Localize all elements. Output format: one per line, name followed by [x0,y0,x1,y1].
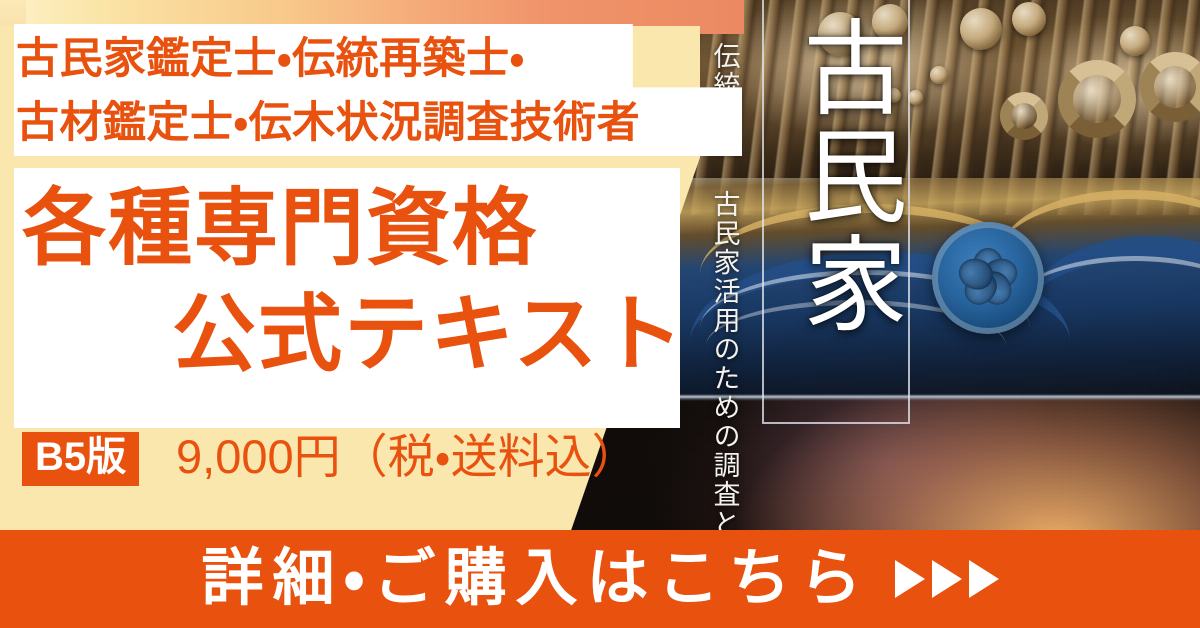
cta-label: 詳細・ご購入はこちら [201,548,870,610]
cta-arrow-group [895,560,999,598]
book-title-vertical: 古民家 [770,14,902,338]
triangle-right-icon [895,560,925,598]
product-name-line-1: 各種専門資格 [22,186,538,270]
triangle-right-icon [932,560,962,598]
triangle-right-icon [969,560,999,598]
price-text: 9,000円（税・送料込） [176,433,639,480]
product-name-line-2: 公式テキスト [172,292,685,376]
cta-bar[interactable]: 詳細・ご購入はこちら [0,530,1200,628]
headline-text: 古民家鑑定士・伝統再築士・ 古材鑑定士・伝木状況調査技術者 [16,28,728,155]
format-badge: B5版 [22,432,139,486]
promo-banner: 古民家 伝統構法 古民家活用のための調査と再生の 古民家鑑定士・伝統再築士・ 古… [0,0,1200,628]
